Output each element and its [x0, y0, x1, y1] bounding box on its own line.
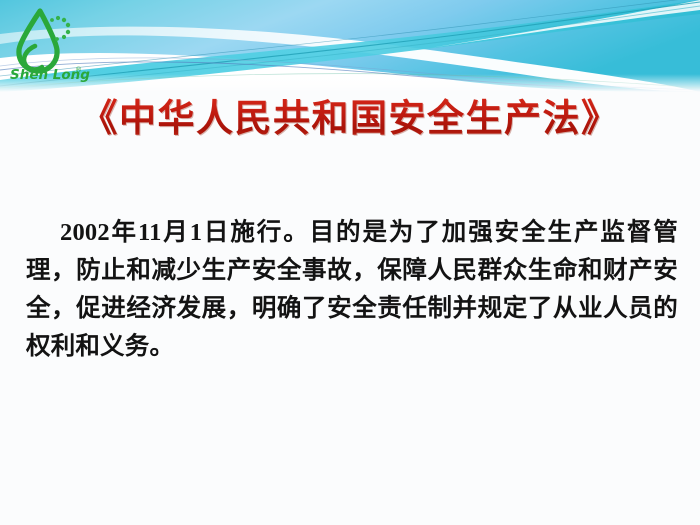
- body-paragraph: 2002年11月1日施行。目的是为了加强安全生产监督管理，防止和减少生产安全事故…: [26, 214, 678, 366]
- page-title: 《中华人民共和国安全生产法》: [81, 96, 620, 143]
- shen-long-logo: Shen Long ®: [6, 6, 90, 86]
- slide-canvas: Shen Long ® 《中华人民共和国安全生产法》 2002年11月1日施行。…: [0, 0, 700, 525]
- slide-title-container: 《中华人民共和国安全生产法》: [0, 96, 700, 142]
- logo-trademark: ®: [75, 66, 82, 74]
- decorative-wave-banner: [0, 0, 700, 92]
- slide-body-container: 2002年11月1日施行。目的是为了加强安全生产监督管理，防止和减少生产安全事故…: [26, 214, 678, 366]
